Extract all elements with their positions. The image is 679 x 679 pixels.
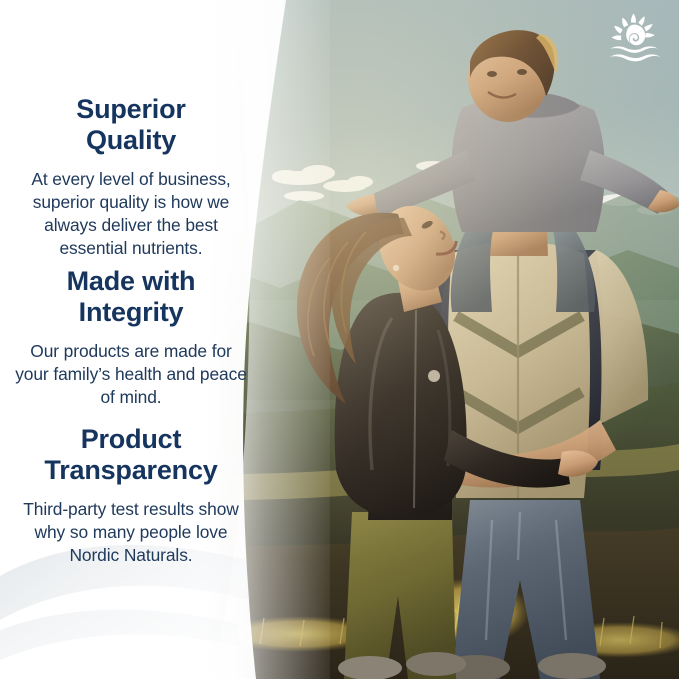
heading-superior-quality: Superior Quality: [0, 94, 262, 157]
value-block-made-with-integrity: Made with Integrity Our products are mad…: [0, 266, 262, 409]
brand-logo: [603, 12, 665, 64]
value-block-product-transparency: Product Transparency Third-party test re…: [0, 424, 262, 567]
heading-line-2: Integrity: [79, 297, 184, 327]
sun-over-waves-icon: [603, 12, 665, 64]
promotional-banner: Superior Quality At every level of busin…: [0, 0, 679, 679]
value-propositions: Superior Quality At every level of busin…: [0, 0, 262, 679]
body-superior-quality: At every level of business, superior qua…: [0, 168, 262, 261]
heading-line-1: Superior: [76, 94, 185, 124]
heading-line-1: Product: [81, 424, 182, 454]
heading-product-transparency: Product Transparency: [0, 424, 262, 487]
heading-line-2: Transparency: [44, 455, 217, 485]
body-made-with-integrity: Our products are made for your family’s …: [0, 340, 262, 409]
heading-line-2: Quality: [86, 125, 176, 155]
body-product-transparency: Third-party test results show why so man…: [0, 498, 262, 567]
heading-made-with-integrity: Made with Integrity: [0, 266, 262, 329]
value-block-superior-quality: Superior Quality At every level of busin…: [0, 94, 262, 260]
heading-line-1: Made with: [67, 266, 196, 296]
